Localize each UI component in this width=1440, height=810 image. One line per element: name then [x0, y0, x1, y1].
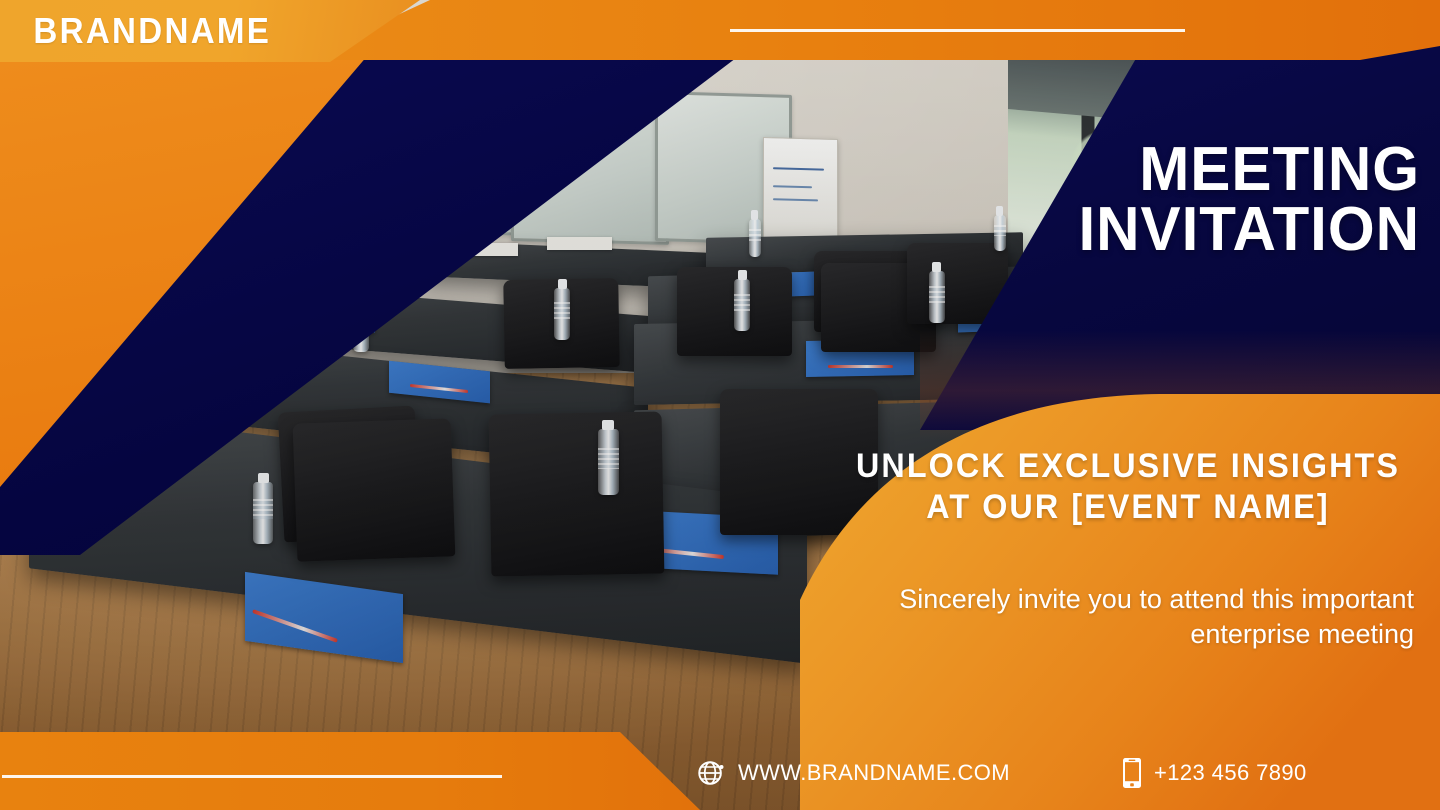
globe-icon — [696, 758, 726, 788]
mobile-phone-icon — [1122, 757, 1142, 789]
title-line-1: MEETING — [964, 140, 1420, 200]
bottom-orange-strip — [0, 732, 700, 810]
phone-text: +123 456 7890 — [1154, 760, 1307, 786]
top-divider-line — [730, 29, 1185, 32]
page-title: MEETING INVITATION — [950, 140, 1420, 259]
subtext-line-2: enterprise meeting — [814, 617, 1414, 652]
headline-line-1: UNLOCK EXCLUSIVE INSIGHTS — [853, 446, 1404, 487]
website-text: WWW.BRANDNAME.COM — [738, 760, 1010, 786]
headline-line-2: AT OUR [EVENT NAME] — [853, 487, 1404, 528]
subtext-line-1: Sincerely invite you to attend this impo… — [814, 582, 1414, 617]
phone-contact[interactable]: +123 456 7890 — [1122, 757, 1307, 789]
invitation-poster: MEETING INVITATION UNLOCK EXCLUSIVE INSI… — [0, 0, 1440, 810]
headline: UNLOCK EXCLUSIVE INSIGHTS AT OUR [EVENT … — [838, 446, 1418, 529]
bottom-divider-line — [2, 775, 502, 778]
title-line-2: INVITATION — [964, 200, 1420, 260]
panel-shape — [800, 350, 1440, 810]
message-panel — [800, 350, 1440, 810]
website-contact[interactable]: WWW.BRANDNAME.COM — [696, 758, 1010, 788]
invitation-subtext: Sincerely invite you to attend this impo… — [814, 582, 1414, 651]
footer-contact-bar: WWW.BRANDNAME.COM +123 456 7890 — [690, 750, 1390, 796]
brand-name: BRANDNAME — [11, 10, 271, 52]
top-orange-strip — [300, 0, 1440, 60]
